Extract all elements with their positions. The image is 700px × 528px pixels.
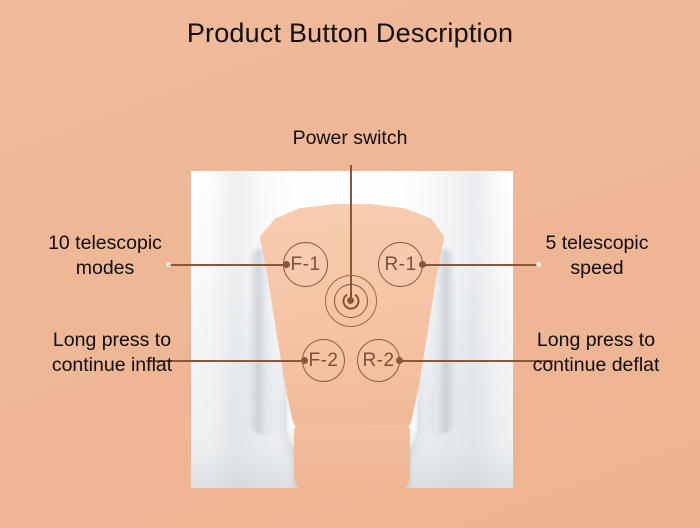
- callout-power-switch: Power switch: [0, 126, 700, 151]
- r1-button-label: R-1: [384, 254, 416, 276]
- control-plate: [242, 203, 462, 463]
- control-plate-lower: [294, 425, 410, 488]
- callout-continue-deflat: Long press to continue deflat: [500, 328, 692, 378]
- f2-button-label: F-2: [309, 350, 339, 372]
- f2-button[interactable]: F-2: [302, 339, 345, 382]
- leader-dot-inflat: [301, 357, 308, 364]
- leader-dot-modes: [283, 261, 290, 268]
- product-diagram: Product Button Description F-1 R-1 F-2 R…: [0, 0, 700, 528]
- r1-button[interactable]: R-1: [378, 242, 423, 287]
- page-title: Product Button Description: [0, 18, 700, 49]
- control-plate-face: [242, 203, 462, 463]
- callout-telescopic-modes: 10 telescopic modes: [20, 231, 190, 281]
- leader-dot-deflat: [396, 357, 403, 364]
- r2-button[interactable]: R-2: [357, 339, 400, 382]
- callout-telescopic-speed: 5 telescopic speed: [512, 231, 682, 281]
- leader-dot-speed: [419, 261, 426, 268]
- r2-button-label: R-2: [362, 350, 394, 372]
- leader-dot-power: [347, 297, 354, 304]
- product-photo: [191, 171, 513, 488]
- callout-continue-inflat: Long press to continue inflat: [16, 328, 208, 378]
- f1-button-label: F-1: [291, 254, 321, 276]
